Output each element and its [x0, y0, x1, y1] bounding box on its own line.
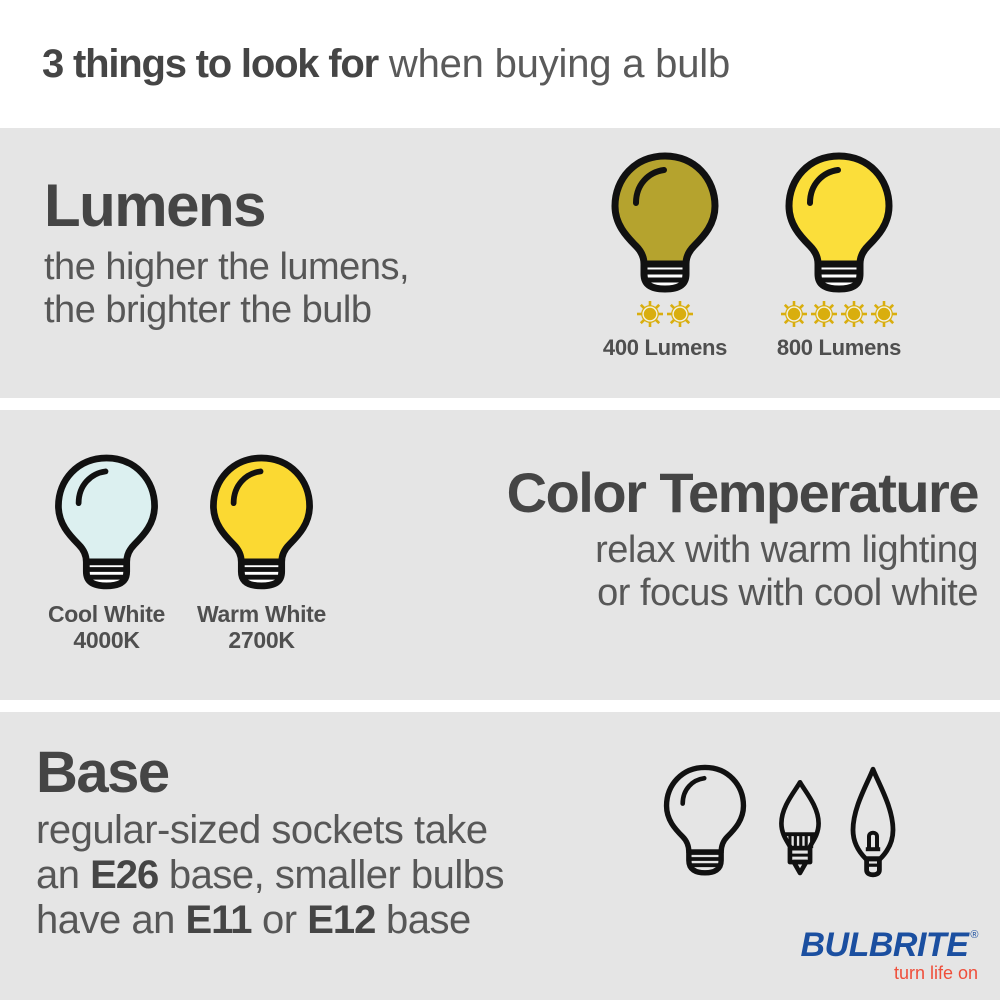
cool-white-caption-line1: Cool White — [48, 602, 165, 628]
page-title-bold: 3 things to look for — [42, 42, 378, 86]
cool-white-caption-line2: 4000K — [48, 628, 165, 654]
color-bulb-warm-white: Warm White 2700K — [197, 450, 326, 654]
base-subline-line2-post: base, smaller bulbs — [158, 853, 504, 897]
color-temperature-headline: Color Temperature — [507, 465, 978, 521]
lumens-bulb-800: 800 Lumens — [774, 148, 904, 361]
section-color-temperature: Cool White 4000K Warm White 2700K — [0, 410, 1000, 700]
bulb-candle-led-outline-icon — [769, 778, 831, 878]
base-code-e11: E11 — [185, 898, 251, 942]
lumens-headline: Lumens — [44, 176, 409, 236]
color-temperature-subline-line2: or focus with cool white — [507, 572, 978, 615]
lumens-bulb-400: 400 Lumens — [600, 148, 730, 361]
color-temperature-subline-line1: relax with warm lighting — [507, 529, 978, 572]
page-header: 3 things to look for when buying a bulb — [0, 0, 1000, 128]
lumens-800-sun-rating — [781, 299, 897, 329]
base-subline-line3-pre: have an — [36, 898, 185, 942]
base-bulb-group — [655, 760, 901, 878]
base-subline-line1: regular-sized sockets take — [36, 808, 504, 853]
sun-icon — [841, 301, 867, 327]
lumens-subline: the higher the lumens, the brighter the … — [44, 246, 409, 331]
sun-icon — [871, 301, 897, 327]
brand-wordmark: BULBRITE® — [801, 928, 979, 962]
lumens-800-caption: 800 Lumens — [777, 336, 901, 361]
bulb-a19-icon — [199, 450, 324, 590]
base-code-e26: E26 — [90, 853, 158, 897]
bulb-a19-outline-icon — [655, 760, 755, 878]
warm-white-caption: Warm White 2700K — [197, 602, 326, 654]
lumens-400-caption: 400 Lumens — [603, 336, 727, 361]
base-subline-line3-mid: or — [251, 898, 307, 942]
warm-white-caption-line1: Warm White — [197, 602, 326, 628]
sun-icon — [667, 301, 693, 327]
base-text-block: Base regular-sized sockets take an E26 b… — [36, 744, 504, 942]
base-subline: regular-sized sockets take an E26 base, … — [36, 808, 504, 942]
color-temperature-text-block: Color Temperature relax with warm lighti… — [507, 465, 978, 614]
base-subline-line3: have an E11 or E12 base — [36, 898, 504, 943]
lumens-subline-line1: the higher the lumens, — [44, 246, 409, 289]
color-temperature-subline: relax with warm lighting or focus with c… — [507, 529, 978, 614]
bulb-a19-icon — [774, 148, 904, 293]
brand-wordmark-text: BULBRITE — [801, 928, 969, 962]
infographic-page: 3 things to look for when buying a bulb … — [0, 0, 1000, 1000]
base-code-e12: E12 — [307, 898, 375, 942]
registered-trademark-icon: ® — [970, 930, 978, 941]
brand-logo: BULBRITE® turn life on — [801, 928, 979, 984]
bulb-flame-tip-outline-icon — [845, 766, 901, 878]
section-base: Base regular-sized sockets take an E26 b… — [0, 712, 1000, 1000]
base-subline-line3-post: base — [375, 898, 470, 942]
lumens-400-sun-rating — [637, 299, 693, 329]
brand-tagline: turn life on — [801, 963, 979, 984]
page-title-light: when buying a bulb — [378, 42, 730, 86]
base-subline-line2: an E26 base, smaller bulbs — [36, 853, 504, 898]
lumens-subline-line2: the brighter the bulb — [44, 289, 409, 332]
base-headline: Base — [36, 744, 504, 802]
sun-icon — [781, 301, 807, 327]
bulb-a19-icon — [44, 450, 169, 590]
page-title: 3 things to look for when buying a bulb — [0, 42, 730, 87]
section-lumens: Lumens the higher the lumens, the bright… — [0, 128, 1000, 398]
base-subline-line2-pre: an — [36, 853, 90, 897]
sun-icon — [637, 301, 663, 327]
color-temperature-bulb-group: Cool White 4000K Warm White 2700K — [44, 450, 326, 654]
bulb-a19-icon — [600, 148, 730, 293]
lumens-text-block: Lumens the higher the lumens, the bright… — [44, 176, 409, 331]
color-bulb-cool-white: Cool White 4000K — [44, 450, 169, 654]
warm-white-caption-line2: 2700K — [197, 628, 326, 654]
cool-white-caption: Cool White 4000K — [48, 602, 165, 654]
sun-icon — [811, 301, 837, 327]
lumens-bulb-group: 400 Lumens — [600, 148, 904, 361]
